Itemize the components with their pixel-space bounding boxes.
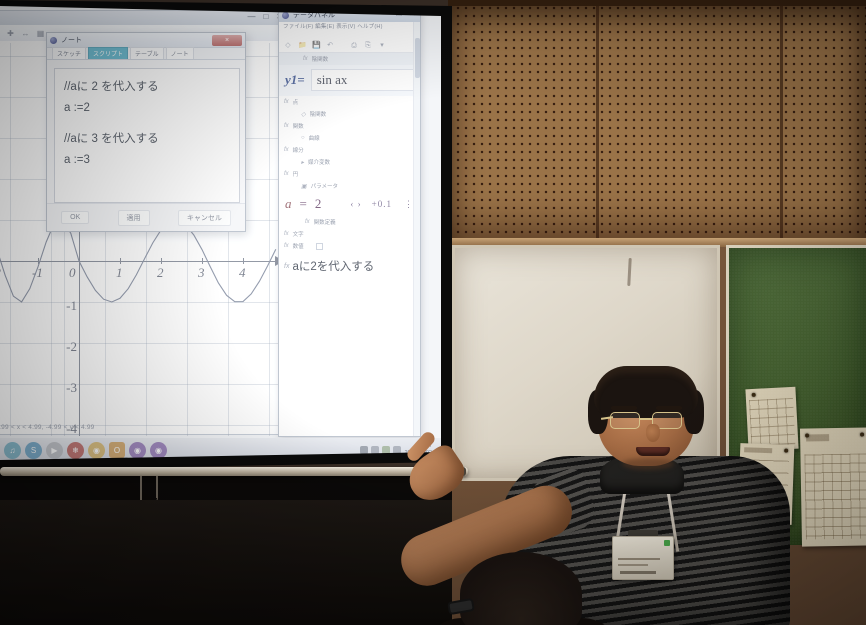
save-icon[interactable]: 💾 xyxy=(312,42,320,50)
pegboard-wall-panel xyxy=(448,6,866,243)
script-note-text: aに2を代入する xyxy=(292,258,374,274)
parameter-row[interactable]: a = 2 ‹ › +0.1 ⋮ xyxy=(279,192,420,216)
parameter-nav-arrows[interactable]: ‹ › xyxy=(350,199,361,209)
scale-icon[interactable]: ↔ xyxy=(21,29,30,38)
skype-icon[interactable]: S xyxy=(25,442,42,459)
row-label: 点 xyxy=(293,98,299,106)
minimize-icon[interactable]: — xyxy=(247,12,255,21)
cancel-button[interactable]: キャンセル xyxy=(178,210,231,226)
eyebrow-left xyxy=(611,406,637,410)
tab-sketch[interactable]: スケッチ xyxy=(52,47,86,59)
data-panel-scrollbar[interactable] xyxy=(413,22,420,436)
eyebrow-right xyxy=(656,406,682,410)
sub-icon: ▸ xyxy=(301,159,304,166)
projection-screen-surface: — □ ✕ △ ✚ ↔ ▦ xyxy=(0,4,441,462)
note-dialog-footer[interactable]: OK 適用 キャンセル xyxy=(47,203,245,231)
projected-desktop: — □ ✕ △ ✚ ↔ ▦ xyxy=(0,4,441,462)
data-panel-row[interactable]: fx 文字 xyxy=(279,228,420,240)
presenter-hair xyxy=(594,366,698,418)
grapes-icon[interactable]: ◉ xyxy=(129,442,146,459)
fx-icon: fx xyxy=(284,171,289,177)
sub-icon: ◇ xyxy=(301,111,306,118)
note-dialog-tabs[interactable]: スケッチ スクリプト テーブル ノート xyxy=(47,48,245,60)
fx-icon: fx xyxy=(284,123,289,129)
script-line: a :=3 xyxy=(64,150,230,171)
maximize-icon[interactable]: □ xyxy=(263,12,268,21)
data-panel-subrow[interactable]: ○ 曲線 xyxy=(279,132,420,144)
grid-icon[interactable]: ▦ xyxy=(36,29,45,38)
copy-icon[interactable]: ⎘ xyxy=(364,42,372,50)
parameter-equals: = xyxy=(300,196,307,212)
presenter-mouth xyxy=(636,447,670,456)
data-panel-row[interactable]: fx 線分 xyxy=(279,144,420,156)
glasses-bridge xyxy=(640,418,652,420)
fx-icon: fx xyxy=(305,219,310,225)
data-panel-subrow[interactable]: ◇ 陰関数 xyxy=(279,108,420,120)
script-blank-line xyxy=(64,119,230,129)
fx-icon: fx xyxy=(284,147,289,153)
scrollbar-thumb[interactable] xyxy=(415,38,420,78)
audience-head xyxy=(460,552,582,625)
open-icon[interactable]: 📁 xyxy=(298,42,306,50)
glasses-lens-left xyxy=(610,412,640,429)
parameter-name: a xyxy=(285,196,292,212)
parameter-step[interactable]: +0.1 xyxy=(372,199,392,209)
sub-icon: ▣ xyxy=(301,183,307,190)
graph-statusbar: -4.99 < x < 4.99, -4.99 < y < 4.99 xyxy=(0,421,287,434)
pegboard-seam xyxy=(780,6,783,243)
equation-input[interactable]: sin ax xyxy=(311,69,414,91)
tool-row-label: 関数定義 xyxy=(314,218,336,226)
fx-icon: fx xyxy=(284,263,289,270)
fx-icon: fx xyxy=(284,99,289,105)
note-dialog-titlebar[interactable]: ノート × xyxy=(47,33,245,48)
presenter-nose xyxy=(646,424,660,442)
tool-row[interactable]: fx 関数定義 xyxy=(279,216,420,228)
office-icon[interactable]: O xyxy=(109,442,125,458)
grapes-icon-2[interactable]: ◉ xyxy=(150,442,167,459)
script-line: //aに 2 を代入する xyxy=(64,77,230,98)
subrow-label: パラメータ xyxy=(311,182,338,190)
equation-label: y1= xyxy=(285,72,305,88)
ok-button[interactable]: OK xyxy=(61,211,89,224)
graph-window-titlebar[interactable]: — □ ✕ xyxy=(0,11,287,25)
row-label: 文字 xyxy=(293,230,304,238)
badge-logo xyxy=(664,540,670,546)
volume-icon[interactable] xyxy=(371,446,379,454)
fx-icon: fx xyxy=(284,243,289,249)
video-icon[interactable]: ▶ xyxy=(46,442,63,459)
badge-text-line xyxy=(618,564,648,566)
app-icon xyxy=(282,12,289,19)
print-icon[interactable]: ⎙ xyxy=(350,42,358,50)
new-icon[interactable]: ◇ xyxy=(284,42,292,50)
note-dialog-title: ノート xyxy=(61,35,82,45)
data-panel-menubar[interactable]: ファイル(F) 編集(E) 表示(V) ヘルプ(H) xyxy=(279,22,420,39)
media-player-icon[interactable]: ♫ xyxy=(4,442,21,459)
data-panel-window[interactable]: データパネル — □ ✕ ファイル(F) 編集(E) 表示(V) ヘルプ(H) … xyxy=(278,7,421,437)
dropdown-icon[interactable]: ▾ xyxy=(378,42,386,50)
data-panel-subrow[interactable]: ▸ 媒介変数 xyxy=(279,156,420,168)
network-icon[interactable] xyxy=(360,446,368,454)
undo-icon[interactable]: ↶ xyxy=(326,42,334,50)
room-floor-shadow xyxy=(0,500,452,625)
data-panel-row[interactable]: fx 円 xyxy=(279,168,420,180)
projection-screen-roller xyxy=(0,467,468,476)
script-line: //aに 3 を代入する xyxy=(64,129,230,150)
subrow-label: 曲線 xyxy=(309,134,320,142)
parameter-value[interactable]: 2 xyxy=(315,196,322,212)
value-checkbox[interactable] xyxy=(316,243,323,250)
script-text-area[interactable]: //aに 2 を代入する a :=2 //aに 3 を代入する a :=3 xyxy=(54,68,240,203)
sub-icon: ○ xyxy=(301,135,305,141)
row-label: 関数 xyxy=(293,122,304,130)
fx-icon: fx xyxy=(284,231,289,237)
equation-row[interactable]: y1= sin ax xyxy=(279,65,420,96)
note-dialog[interactable]: ノート × スケッチ スクリプト テーブル ノート //aに 2 を代入する a… xyxy=(46,32,246,232)
maple-icon[interactable]: ❄ xyxy=(67,442,84,459)
tab-table[interactable]: テーブル xyxy=(130,47,164,59)
badge-name-line xyxy=(620,571,656,574)
chrome-icon[interactable]: ◉ xyxy=(88,442,105,459)
app-icon xyxy=(50,37,57,44)
script-note-row[interactable]: fx aに2を代入する xyxy=(279,252,420,278)
tab-note[interactable]: ノート xyxy=(166,47,194,59)
data-panel-row[interactable]: fx 数値 xyxy=(279,240,420,252)
data-panel-subrow[interactable]: ▣ パラメータ xyxy=(279,180,420,192)
audience-member xyxy=(432,548,600,625)
row-label: 円 xyxy=(293,170,299,178)
close-icon[interactable]: × xyxy=(212,35,242,46)
data-panel-section-label[interactable]: fx 陰関数 xyxy=(279,53,420,65)
row-label: 線分 xyxy=(293,146,304,154)
ime-icon[interactable] xyxy=(382,446,390,454)
screen-pull-cord[interactable] xyxy=(140,476,142,500)
fx-icon: fx xyxy=(303,56,308,62)
row-label: 数値 xyxy=(293,242,304,250)
data-panel-toolbar[interactable]: ◇ 📁 💾 ↶ ⎙ ⎘ ▾ xyxy=(279,39,420,53)
pegboard-seam xyxy=(596,6,599,243)
section-label-text: 陰関数 xyxy=(312,55,329,63)
presenter-chin-shadow xyxy=(622,458,674,470)
data-panel-row[interactable]: fx 関数 xyxy=(279,120,420,132)
scene-root: — □ ✕ △ ✚ ↔ ▦ xyxy=(0,0,866,625)
menu-items[interactable]: ファイル(F) 編集(E) 表示(V) ヘルプ(H) xyxy=(283,23,416,31)
screen-pull-cord-2[interactable] xyxy=(156,476,158,498)
badge-text-line xyxy=(618,558,660,560)
subrow-label: 陰関数 xyxy=(310,110,327,118)
data-panel-row[interactable]: fx 点 xyxy=(279,96,420,108)
move-icon[interactable]: ✚ xyxy=(6,29,15,38)
apply-button[interactable]: 適用 xyxy=(118,210,150,226)
tab-script[interactable]: スクリプト xyxy=(88,47,128,59)
script-line: a :=2 xyxy=(64,98,230,119)
subrow-label: 媒介変数 xyxy=(308,158,330,166)
